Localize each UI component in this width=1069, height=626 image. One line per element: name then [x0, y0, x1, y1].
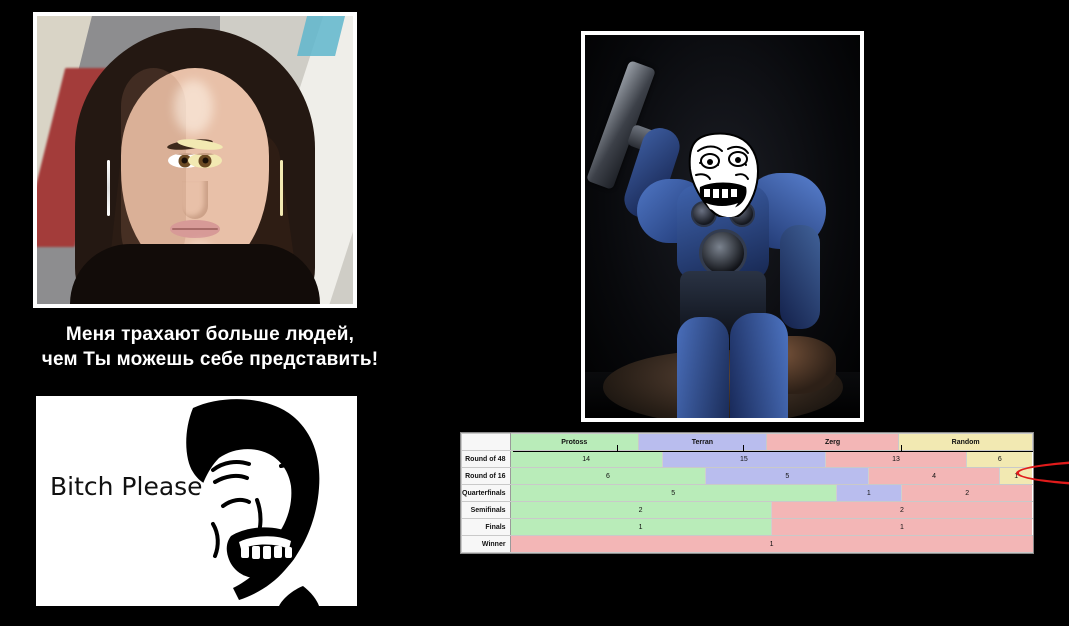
lip-line [172, 228, 218, 230]
rage-face-overlay-icon [684, 131, 762, 217]
row-bar: 6541 [510, 468, 1032, 485]
cell-terran: 1 [837, 485, 902, 501]
row-bar: 22 [510, 502, 1032, 519]
row-bar: 512 [510, 485, 1032, 502]
starcraft-terran-marine-photo [585, 35, 860, 418]
row-bar: 1 [510, 536, 1032, 553]
woman-portrait-photo [37, 16, 353, 304]
table-row: Winner1 [462, 536, 1033, 553]
row-label: Finals [462, 519, 511, 536]
table-row: Round of 481415136 [462, 451, 1033, 468]
cell-protoss: 5 [511, 485, 837, 501]
table-header-row: Protoss Terran Zerg Random [462, 434, 1033, 451]
row-label: Round of 16 [462, 468, 511, 485]
table-row: Quarterfinals512 [462, 485, 1033, 502]
scale-tick-2 [743, 445, 744, 452]
cell-random: 6 [967, 451, 1032, 467]
cell-zerg: 4 [869, 468, 999, 484]
scale-tick-1 [617, 445, 618, 452]
arm-right [780, 225, 820, 329]
forehead-highlight [174, 80, 212, 134]
cell-zerg: 1 [772, 519, 1033, 535]
lips [170, 220, 220, 238]
table-row: Round of 166541 [462, 468, 1033, 485]
cell-protoss: 14 [511, 451, 663, 467]
scale-tick-3 [901, 445, 902, 452]
cell-terran: 15 [663, 451, 826, 467]
marine-photo-frame [581, 31, 864, 422]
header-protoss: Protoss [510, 434, 638, 451]
russian-caption: Меня трахают больше людей, чем Ты можешь… [0, 322, 420, 372]
portrait-photo-frame [33, 12, 357, 308]
yao-ming-face-icon [153, 396, 357, 606]
cell-zerg: 1 [511, 536, 1033, 552]
pupil-left [182, 158, 188, 164]
table-body: Round of 481415136Round of 166541Quarter… [462, 451, 1033, 553]
scale-rule-line [513, 451, 1033, 452]
row-bar: 11 [510, 519, 1032, 536]
cell-terran: 5 [706, 468, 869, 484]
iris-right [199, 154, 212, 167]
cell-protoss: 1 [511, 519, 772, 535]
row-label: Round of 48 [462, 451, 511, 468]
row-bar: 1415136 [510, 451, 1032, 468]
face [121, 68, 269, 274]
cell-zerg: 2 [772, 502, 1033, 518]
race-distribution-table: Protoss Terran Zerg Random Round of 4814… [460, 432, 1034, 554]
row-label: Semifinals [462, 502, 511, 519]
black-dress [70, 244, 320, 304]
yao-ming-bitch-please-meme: Bitch Please! [36, 396, 357, 606]
meme-frame: Bitch Please! [33, 393, 360, 609]
table-row: Semifinals22 [462, 502, 1033, 519]
header-random: Random [899, 434, 1033, 451]
row-label: Quarterfinals [462, 485, 511, 502]
leg-left [677, 317, 729, 418]
chest-vent-center [699, 229, 747, 277]
caption-line-2: чем Ты можешь себе представить! [0, 347, 420, 372]
leg-right [730, 313, 788, 418]
header-zerg: Zerg [766, 434, 898, 451]
cell-zerg: 2 [902, 485, 1032, 501]
eye-right [188, 153, 222, 168]
caption-line-1: Меня трахают больше людей, [0, 322, 420, 347]
cell-zerg: 13 [826, 451, 967, 467]
header-corner [462, 434, 511, 451]
cell-protoss: 6 [511, 468, 707, 484]
cell-random: 1 [1000, 468, 1033, 484]
header-terran: Terran [638, 434, 766, 451]
nose [182, 181, 208, 219]
table-row: Finals11 [462, 519, 1033, 536]
cell-protoss: 2 [511, 502, 772, 518]
pupil-right [202, 158, 208, 164]
earring-left [107, 160, 110, 216]
row-label: Winner [462, 536, 511, 553]
